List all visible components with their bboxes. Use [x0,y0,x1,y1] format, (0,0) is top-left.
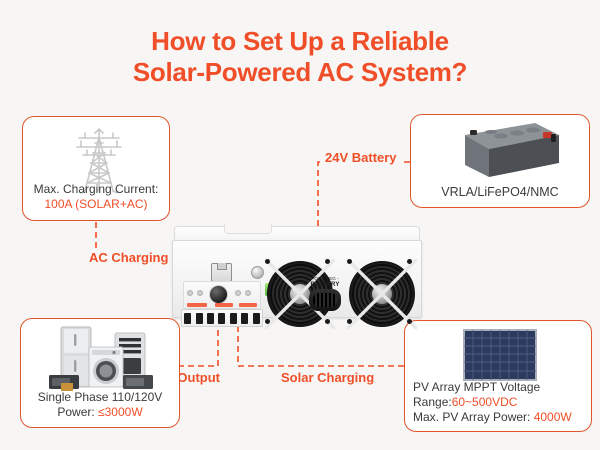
inverter-top-notch [224,224,272,234]
info-card-grid-charging: Max. Charging Current: 100A (SOLAR+AC) [22,116,170,221]
fan-screw [265,259,270,264]
screw-terminal-block [181,309,263,327]
main-dial-icon [209,285,228,304]
title-question-mark: ? [452,57,468,87]
pv-range-value: 60~500VDC [452,395,518,409]
pv-range-label: Range: [413,395,452,409]
fan-screw [325,319,330,324]
pv-card-caption: PV Array MPPT Voltage Range:60~500VDC Ma… [413,380,572,425]
pv-caption-line-3: Max. PV Array Power: 4000W [413,410,572,425]
terminal-marking [239,303,257,307]
grid-card-caption: Max. Charging Current: 100A (SOLAR+AC) [23,182,169,212]
battery-terminal-port [309,289,341,311]
battery-terminal-name: BATTERY [301,282,349,289]
solar-panel-icon [463,329,537,381]
indicator-dot-icon [197,290,203,296]
rj45-port-icon [211,263,232,282]
grid-caption-label: Max. Charging Current: [23,182,169,197]
grid-caption-value: 100A (SOLAR+AC) [23,197,169,212]
inverter-body: POS + NEG - BATTERY [172,240,422,318]
indicator-dot-icon [187,290,193,296]
pv-power-value: 4000W [534,410,572,424]
flow-label-battery: 24V Battery [322,150,400,165]
page-title: How to Set Up a Reliable Solar-Powered A… [0,26,600,88]
pv-caption-line-1: PV Array MPPT Voltage [413,380,572,395]
battery-polarity-text: POS + NEG - [301,275,349,282]
infographic-canvas: How to Set Up a Reliable Solar-Powered A… [0,0,600,450]
lead-acid-battery-icon [439,121,563,183]
load-power-label: Power: [57,405,98,419]
title-line-1: How to Set Up a Reliable [151,26,449,56]
load-caption-line-1: Single Phase 110/120V [21,390,179,405]
inverter-unit: POS + NEG - BATTERY [172,226,420,316]
load-caption-line-2: Power: ≤3000W [21,405,179,420]
info-card-battery: VRLA/LiFePO4/NMC [410,114,590,208]
pv-caption-line-2: Range:60~500VDC [413,395,572,410]
flow-label-solar-charging: Solar Charging [278,370,377,385]
fan-screw [265,319,270,324]
flow-label-ac-charging: AC Charging [86,250,171,265]
battery-card-caption: VRLA/LiFePO4/NMC [411,185,589,200]
indicator-dot-icon [245,290,251,296]
fan-screw [407,259,412,264]
pv-power-label: Max. PV Array Power: [413,410,534,424]
info-card-ac-load: Single Phase 110/120V Power: ≤3000W [20,318,180,428]
battery-terminal-label: POS + NEG - BATTERY [301,275,349,289]
indicator-dot-icon [235,290,241,296]
fan-screw [325,259,330,264]
title-line-2: Solar-Powered AC System? [0,57,600,88]
cooling-fan-icon [349,261,415,327]
load-power-value: ≤3000W [98,405,143,419]
terminal-marking [215,303,233,307]
rotary-knob-icon [251,266,264,279]
fan-screw [407,319,412,324]
fan-screw [347,259,352,264]
fan-screw [347,319,352,324]
info-card-pv-array: PV Array MPPT Voltage Range:60~500VDC Ma… [404,320,592,432]
load-card-caption: Single Phase 110/120V Power: ≤3000W [21,390,179,420]
home-appliances-icon [45,325,157,397]
terminal-marking [187,303,207,307]
